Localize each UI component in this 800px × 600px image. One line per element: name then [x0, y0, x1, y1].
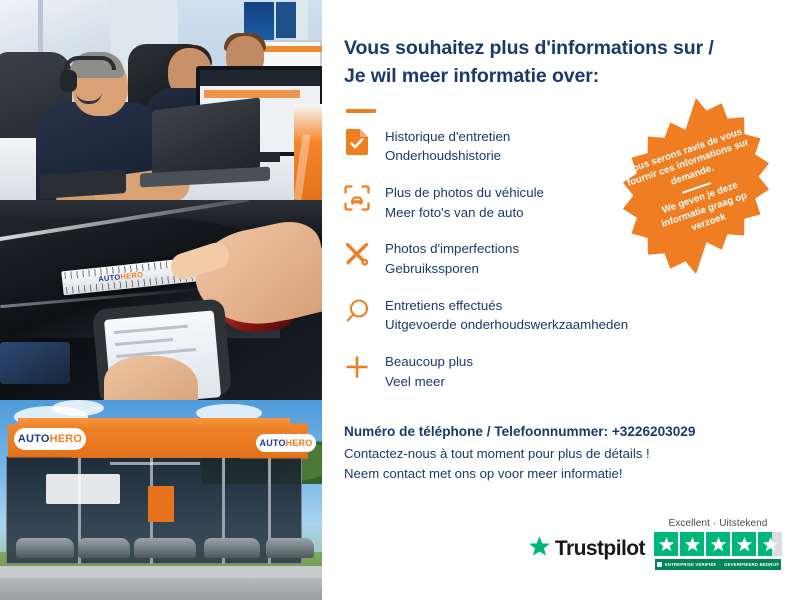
label-fr: Entretiens effectués	[385, 298, 502, 313]
label-nl: Veel meer	[385, 372, 473, 392]
trustpilot-wordmark: Trustpilot	[555, 537, 645, 561]
list-item-label: Plus de photos du véhicule Meer foto's v…	[385, 183, 544, 222]
page-title-line-nl: Je wil meer informatie over:	[344, 62, 764, 90]
showroom-car	[134, 538, 196, 558]
label-fr: Photos d'imperfections	[385, 241, 519, 256]
label-nl: Uitgevoerde onderhoudswerkzaamheden	[385, 315, 628, 335]
list-item-label: Historique d'entretien Onderhoudshistori…	[385, 127, 510, 166]
autohero-sign-left: AUTOHERO	[14, 428, 86, 450]
autohero-showroom-photo: AUTOHERO AUTOHERO	[0, 400, 322, 600]
trustpilot-logo: Trustpilot	[528, 535, 645, 570]
star-icon-partial	[758, 532, 782, 556]
plus-icon	[344, 354, 370, 380]
brand-text-hero: HERO	[50, 433, 83, 445]
verified-check-icon	[657, 562, 662, 567]
brand-text-auto: AUTO	[18, 433, 50, 445]
feature-list: Historique d'entretien Onderhoudshistori…	[344, 127, 800, 392]
orange-signage-edge	[294, 104, 322, 200]
trustpilot-rating: Excellent · Uitstekend	[654, 518, 782, 570]
interior-banner	[46, 474, 120, 504]
document-check-icon	[344, 129, 370, 155]
page-title: Vous souhaitez plus d'informations sur /…	[344, 34, 764, 91]
call-center-agents-photo	[0, 0, 322, 200]
vehicle-inspection-photo: AUTOHERO	[0, 200, 322, 400]
star-icon	[528, 535, 551, 563]
showroom-car	[204, 538, 260, 558]
photo-column: AUTOHERO	[0, 0, 322, 600]
screen-text-line	[114, 325, 188, 334]
star-icon	[654, 532, 678, 556]
page-title-line-fr: Vous souhaitez plus d'informations sur /	[344, 34, 764, 62]
phone-note-nl: Neem contact met ons op voor meer inform…	[344, 464, 695, 484]
star-icon	[732, 532, 756, 556]
star-icon	[680, 532, 704, 556]
background-equipment	[0, 342, 70, 384]
rating-label: Excellent · Uitstekend	[669, 518, 768, 529]
verified-separator: ·	[719, 562, 721, 567]
autohero-sign-right: AUTOHERO	[256, 434, 316, 452]
phone-number-title[interactable]: Numéro de téléphone / Telefoonnummer: +3…	[344, 424, 695, 439]
brand-text-auto: AUTO	[260, 438, 286, 448]
title-divider	[346, 109, 376, 113]
showroom-car	[16, 538, 74, 558]
verified-label-fr: ENTREPRISE VÉRIFIÉE	[665, 562, 717, 567]
verified-business-bar: ENTREPRISE VÉRIFIÉE · GEVERIFIEERD BEDRI…	[655, 559, 781, 570]
car-photo-frame-icon	[344, 185, 370, 211]
showroom-car	[266, 538, 314, 558]
label-fr: Plus de photos du véhicule	[385, 185, 544, 200]
list-item: Beaucoup plus Veel meer	[344, 352, 800, 391]
phone-block: Numéro de téléphone / Telefoonnummer: +3…	[344, 424, 695, 485]
trustpilot-widget[interactable]: Trustpilot Excellent · Uitstekend	[528, 518, 782, 570]
list-item-label: Entretiens effectués Uitgevoerde onderho…	[385, 296, 628, 335]
list-item-label: Photos d'imperfections Gebruikssporen	[385, 239, 519, 278]
star-rating	[654, 532, 782, 556]
brand-text-hero: HERO	[286, 438, 313, 448]
label-nl: Onderhoudshistorie	[385, 146, 510, 166]
ceiling-light-strip	[110, 462, 200, 465]
list-item: Historique d'entretien Onderhoudshistori…	[344, 127, 800, 166]
list-item: Plus de photos du véhicule Meer foto's v…	[344, 183, 800, 222]
cloud	[52, 400, 104, 416]
label-fr: Historique d'entretien	[385, 129, 510, 144]
list-item: Entretiens effectués Uitgevoerde onderho…	[344, 296, 800, 335]
tools-cross-icon	[344, 241, 370, 267]
promo-infosheet: AUTOHERO	[0, 0, 800, 600]
interior-orange-partition	[148, 486, 174, 522]
screen-text-line	[115, 338, 173, 346]
wall-poster-secondary	[276, 2, 298, 38]
headset-band	[64, 56, 116, 70]
verified-label-nl: GEVERIFIEERD BEDRIJF	[724, 562, 779, 567]
label-nl: Gebruikssporen	[385, 259, 519, 279]
magnifier-icon	[344, 298, 370, 324]
label-fr: Beaucoup plus	[385, 354, 473, 369]
headset-earcup	[60, 70, 77, 92]
star-icon	[706, 532, 730, 556]
list-item: Photos d'imperfections Gebruikssporen	[344, 239, 800, 278]
list-item-label: Beaucoup plus Veel meer	[385, 352, 473, 391]
showroom-car	[78, 538, 130, 558]
content-panel: Vous souhaitez plus d'informations sur /…	[322, 0, 800, 600]
road	[0, 578, 322, 600]
phone-note-fr: Contactez-nous à tout moment pour plus d…	[344, 444, 695, 464]
label-nl: Meer foto's van de auto	[385, 203, 544, 223]
